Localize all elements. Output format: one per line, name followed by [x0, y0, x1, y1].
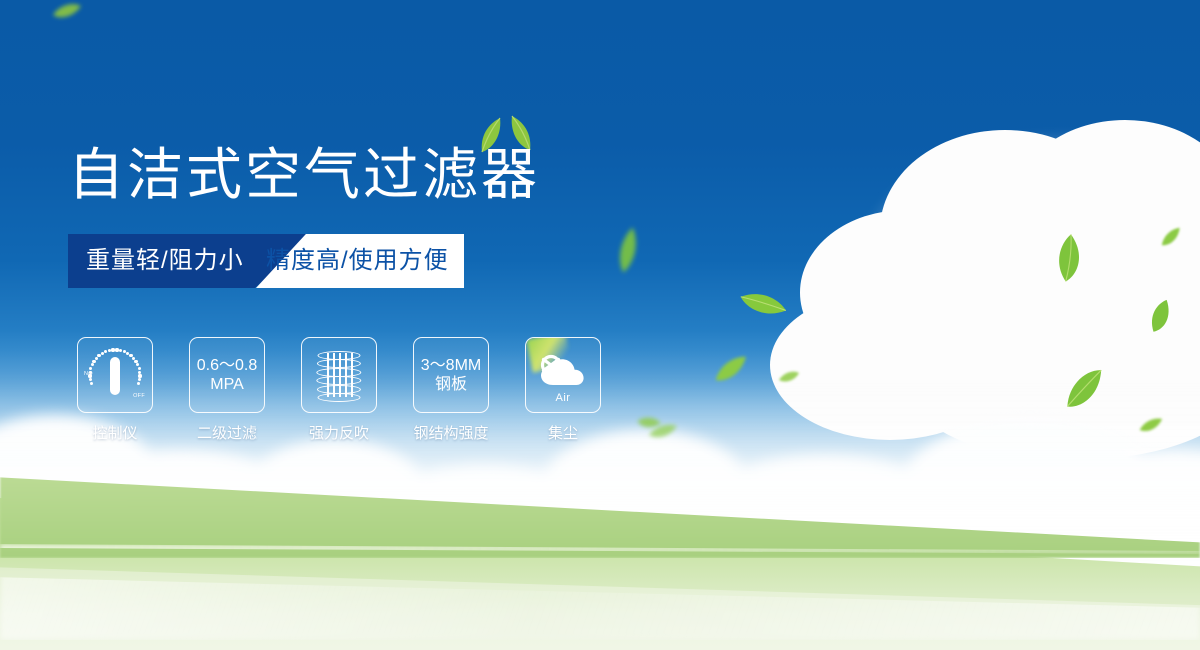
floating-leaf-2	[612, 224, 643, 276]
feature-list: NO OFF 控制仪 0.6～0.8 MPA 二级过滤 强力反吹	[77, 337, 601, 443]
feature-item-dustcollect[interactable]: Air 集尘	[525, 337, 601, 443]
feature-item-steel[interactable]: 3～8MM 钢板 钢结构强度	[413, 337, 489, 443]
steel-material: 钢板	[421, 375, 481, 394]
feature-item-controller[interactable]: NO OFF 控制仪	[77, 337, 153, 443]
feature-icon-box	[301, 337, 377, 413]
subtitle-left-text: 重量轻/阻力小	[86, 234, 244, 288]
feature-label: 钢结构强度	[413, 422, 488, 443]
feature-icon-box: Air	[525, 337, 601, 413]
floating-leaf-1	[52, 2, 82, 20]
feature-label: 控制仪	[92, 422, 137, 443]
air-label: Air	[533, 392, 593, 404]
feature-icon-box: NO OFF	[77, 337, 153, 413]
gauge-dial-icon: NO OFF	[84, 344, 146, 406]
steel-plate-text-icon: 3～8MM 钢板	[421, 356, 481, 394]
feature-icon-box: 3～8MM 钢板	[413, 337, 489, 413]
feature-label: 强力反吹	[309, 422, 369, 443]
pressure-text-icon: 0.6～0.8 MPA	[197, 356, 258, 394]
subtitle-right-text: 精度高/使用方便	[266, 234, 449, 288]
feature-label: 二级过滤	[197, 422, 257, 443]
pressure-value: 0.6～0.8	[197, 357, 258, 374]
steel-thickness: 3～8MM	[421, 357, 481, 374]
feature-icon-box: 0.6～0.8 MPA	[189, 337, 265, 413]
product-banner: 自洁式空气过滤器 重量轻/阻力小 精度高/使用方便 NO OFF 控制仪 0.6…	[0, 0, 1200, 650]
filter-coil-icon	[313, 347, 365, 403]
cloud-sun-air-icon: Air	[533, 349, 593, 401]
gauge-off-label: OFF	[133, 393, 145, 399]
feature-item-pressure[interactable]: 0.6～0.8 MPA 二级过滤	[189, 337, 265, 443]
subtitle-bar: 重量轻/阻力小 精度高/使用方便	[68, 234, 464, 288]
feature-label: 集尘	[548, 422, 578, 443]
pressure-unit: MPA	[197, 375, 258, 394]
feature-item-backblow[interactable]: 强力反吹	[301, 337, 377, 443]
page-title: 自洁式空气过滤器	[68, 144, 540, 206]
